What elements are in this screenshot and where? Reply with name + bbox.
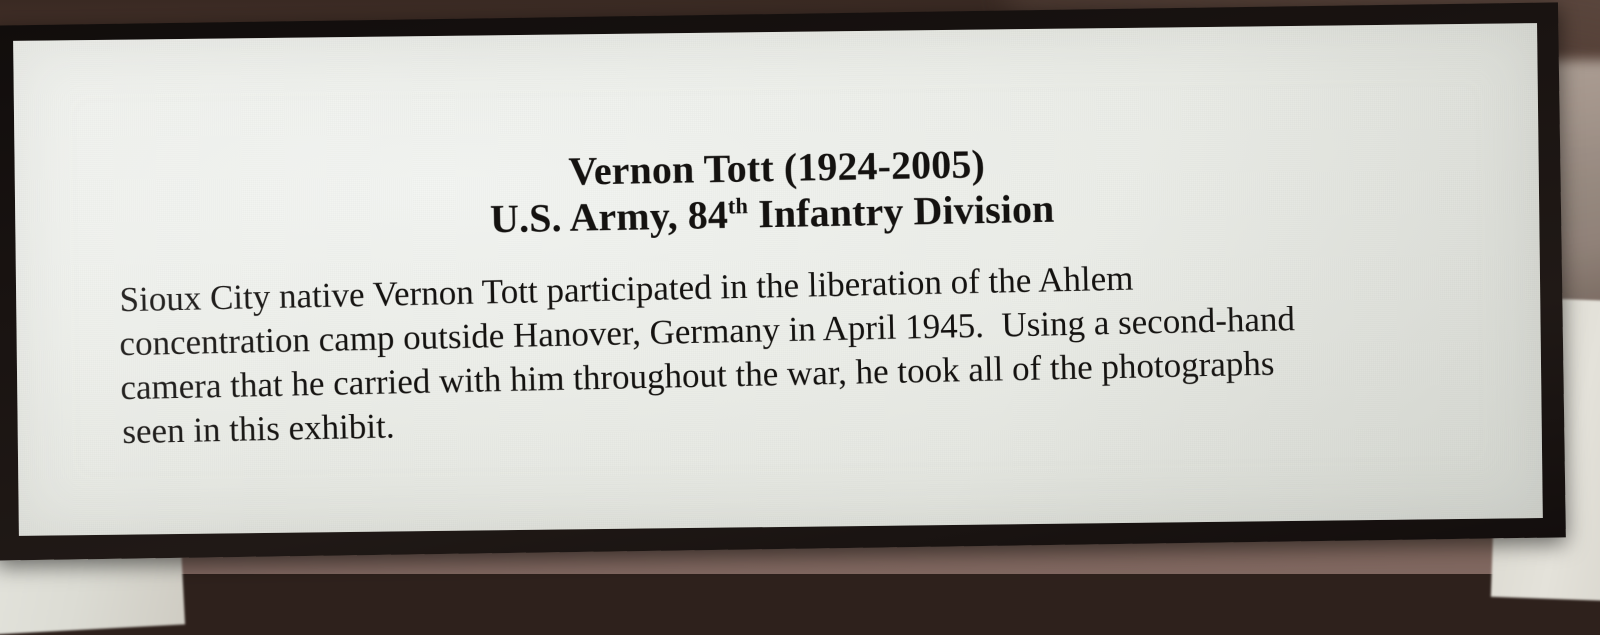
exhibit-placard-frame: Vernon Tott (1924-2005) U.S. Army, 84th … xyxy=(0,2,1566,560)
placard-body-paragraph: Sioux City native Vernon Tott participat… xyxy=(118,249,1482,454)
placard-text-content: Vernon Tott (1924-2005) U.S. Army, 84th … xyxy=(13,23,1543,536)
title-ordinal-suffix: th xyxy=(728,193,749,218)
placard-paper-card: Vernon Tott (1924-2005) U.S. Army, 84th … xyxy=(13,23,1543,536)
title-unit-prefix: U.S. Army, 84 xyxy=(490,192,729,241)
title-unit-suffix: Infantry Division xyxy=(748,186,1055,237)
